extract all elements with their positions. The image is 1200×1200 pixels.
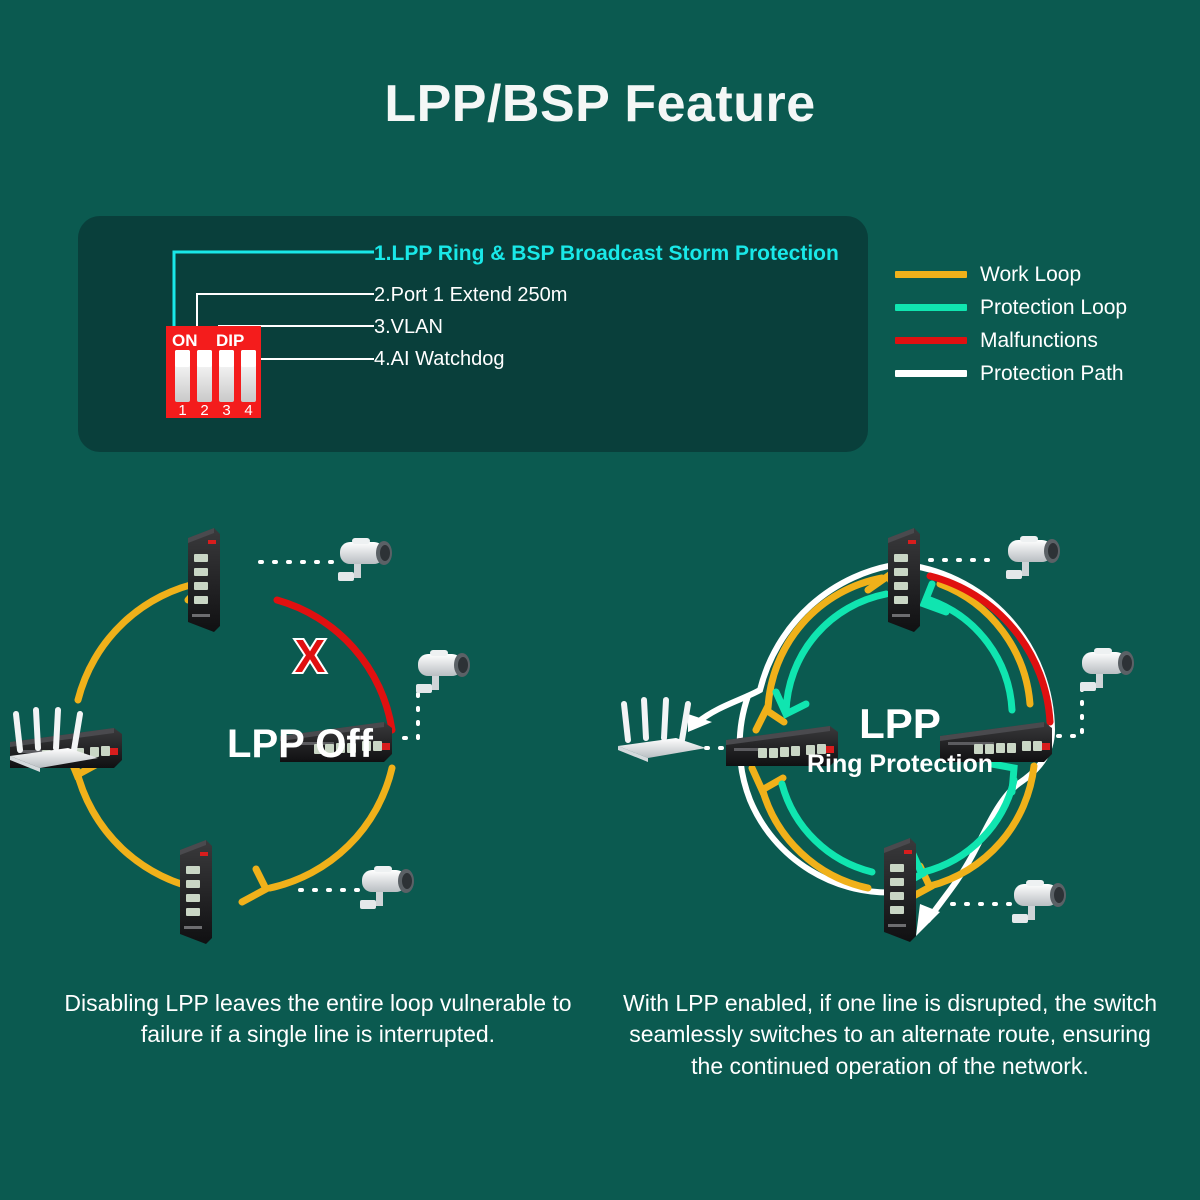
dip-dip-label: DIP <box>216 331 244 351</box>
dip-slider-1[interactable] <box>175 350 190 402</box>
legend-label-malfunctions: Malfunctions <box>980 329 1098 353</box>
dip-number-3: 3 <box>219 402 234 419</box>
cctv-camera[interactable] <box>1012 880 1066 923</box>
legend-item-protection-loop: Protection Loop <box>895 291 1185 324</box>
legend-item-work-loop: Work Loop <box>895 258 1185 291</box>
network-switch[interactable] <box>888 528 920 632</box>
legend-label-protection-path: Protection Path <box>980 362 1124 386</box>
cctv-camera[interactable] <box>338 538 392 581</box>
dip-slider-3[interactable] <box>219 350 234 402</box>
diagram-lpp-off: X <box>0 500 600 970</box>
cctv-camera[interactable] <box>416 650 470 693</box>
network-switch[interactable] <box>280 722 392 762</box>
dip-number-2: 2 <box>197 402 212 419</box>
legend-swatch-work-loop <box>895 271 967 278</box>
legend-label-work-loop: Work Loop <box>980 263 1081 287</box>
legend-swatch-protection-path <box>895 370 967 377</box>
break-x-icon: X <box>295 630 326 682</box>
caption-lpp-on: With LPP enabled, if one line is disrupt… <box>620 988 1160 1082</box>
cctv-camera[interactable] <box>360 866 414 909</box>
feature-panel: ON DIP 1 2 3 4 1.LPP Ring & BSP Broadcas… <box>78 216 868 452</box>
dip-switch[interactable]: ON DIP 1 2 3 4 <box>166 326 261 418</box>
dip-number-1: 1 <box>175 402 190 419</box>
diagram-left-graphics: X <box>0 500 600 970</box>
caption-lpp-off: Disabling LPP leaves the entire loop vul… <box>58 988 578 1051</box>
lpp-sublabel: Ring Protection <box>600 750 1200 779</box>
diagram-lpp-on: LPP Ring Protection <box>600 500 1200 970</box>
diagram-right-graphics <box>600 500 1200 970</box>
cctv-camera[interactable] <box>1006 536 1060 579</box>
dip-slider-4[interactable] <box>241 350 256 402</box>
legend-item-malfunctions: Malfunctions <box>895 324 1185 357</box>
page-title: LPP/BSP Feature <box>0 74 1200 134</box>
svg-text:X: X <box>295 630 326 682</box>
network-switch[interactable] <box>188 528 220 632</box>
legend-swatch-malfunctions <box>895 337 967 344</box>
feature-label-2: 2.Port 1 Extend 250m <box>374 284 567 307</box>
dip-slider-2[interactable] <box>197 350 212 402</box>
feature-label-1: 1.LPP Ring & BSP Broadcast Storm Protect… <box>374 242 839 266</box>
dip-on-label: ON <box>172 331 198 351</box>
feature-label-3: 3.VLAN <box>374 316 443 339</box>
legend-item-protection-path: Protection Path <box>895 357 1185 390</box>
feature-label-4: 4.AI Watchdog <box>374 348 504 371</box>
network-switch[interactable] <box>884 838 916 942</box>
legend: Work Loop Protection Loop Malfunctions P… <box>895 258 1185 390</box>
legend-swatch-protection-loop <box>895 304 967 311</box>
dip-number-4: 4 <box>241 402 256 419</box>
legend-label-protection-loop: Protection Loop <box>980 296 1127 320</box>
network-switch[interactable] <box>180 840 212 944</box>
cctv-camera[interactable] <box>1080 648 1134 691</box>
